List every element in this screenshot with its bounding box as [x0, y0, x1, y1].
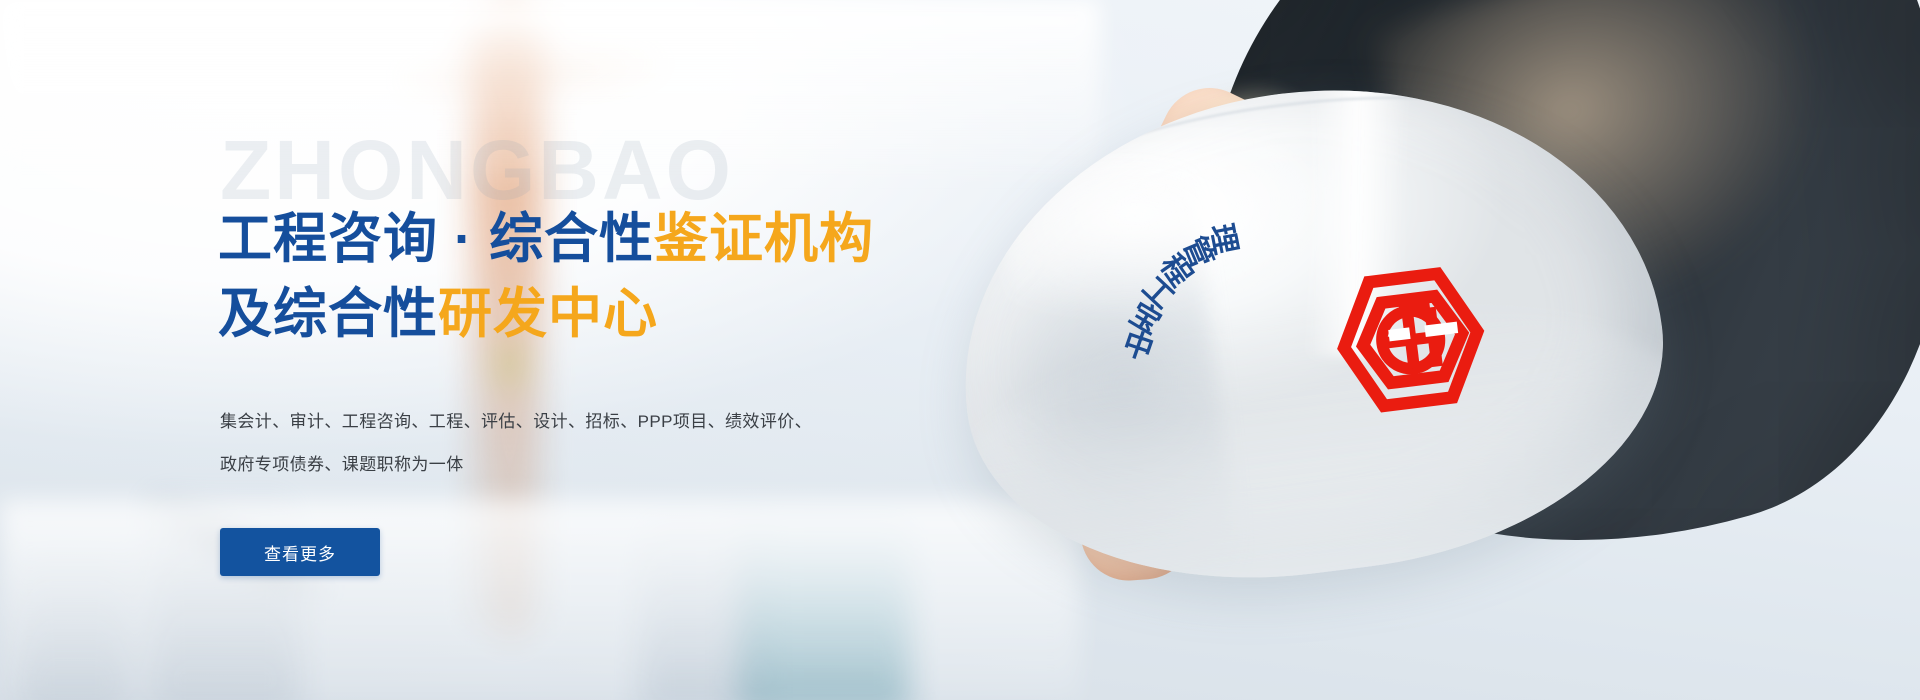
headline-line1-gold: 鉴证机构 — [654, 209, 874, 269]
description-line-1: 集会计、审计、工程咨询、工程、评估、设计、招标、PPP项目、绩效评价、 — [220, 400, 812, 443]
hero-headline: 工程咨询 · 综合性鉴证机构 及综合性研发中心 — [218, 202, 874, 351]
headline-line-2: 及综合性研发中心 — [218, 277, 874, 352]
headline-line2-gold: 研发中心 — [438, 284, 658, 344]
headline-line2-blue: 及综合性 — [218, 284, 438, 344]
hero-content: ZHONGBAO 工程咨询 · 综合性鉴证机构 及综合性研发中心 集会计、审计、… — [218, 0, 978, 700]
description-line-2: 政府专项债券、课题职称为一体 — [220, 443, 812, 486]
view-more-button[interactable]: 查看更多 — [220, 528, 380, 576]
helmet-brand-text: 中 宝 工 程 管 理 — [1107, 199, 1441, 533]
helmet-char-5: 理 — [1202, 219, 1251, 257]
headline-line1-blue: 工程咨询 · 综合性 — [218, 209, 654, 269]
hero-description: 集会计、审计、工程咨询、工程、评估、设计、招标、PPP项目、绩效评价、 政府专项… — [220, 400, 812, 487]
hero-banner: 中 宝 工 程 管 理 ZHONGBAO 工程咨询 · 综合性鉴证机构 及综合性… — [0, 0, 1920, 700]
headline-line-1: 工程咨询 · 综合性鉴证机构 — [218, 202, 874, 277]
watermark-text: ZHONGBAO — [220, 128, 734, 212]
